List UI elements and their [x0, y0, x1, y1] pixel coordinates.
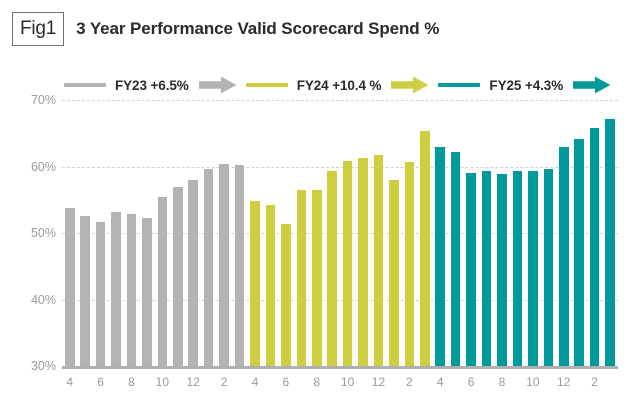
- bar[interactable]: [158, 197, 168, 366]
- x-axis-tick-label: [108, 372, 123, 394]
- bar-slot: [247, 100, 262, 366]
- bar-slot: [402, 100, 417, 366]
- bar-slot: [355, 100, 370, 366]
- bar[interactable]: [405, 162, 415, 366]
- x-axis-tick-label: 12: [371, 372, 386, 394]
- bar[interactable]: [451, 152, 461, 366]
- y-axis-tick-label: 30%: [16, 359, 56, 373]
- bar-slot: [463, 100, 478, 366]
- x-axis-tick-label: [170, 372, 185, 394]
- bar-slot: [216, 100, 231, 366]
- chart-plot-area: 30%40%50%60%70% 468101224681012246810122: [0, 0, 627, 400]
- bar-slot: [62, 100, 77, 366]
- bar[interactable]: [219, 164, 229, 366]
- bar-slot: [309, 100, 324, 366]
- x-axis-tick-label: 2: [587, 372, 602, 394]
- y-axis-tick-label: 40%: [16, 293, 56, 307]
- bar-slot: [232, 100, 247, 366]
- x-axis-tick-label: [541, 372, 556, 394]
- bar[interactable]: [250, 201, 260, 366]
- x-axis-tick-label: [510, 372, 525, 394]
- bar-slot: [278, 100, 293, 366]
- bar[interactable]: [482, 171, 492, 367]
- bar[interactable]: [544, 169, 554, 366]
- x-axis-tick-label: 10: [525, 372, 540, 394]
- x-axis-tick-label: 4: [247, 372, 262, 394]
- x-axis-tick-label: 4: [62, 372, 77, 394]
- bar[interactable]: [574, 139, 584, 366]
- bar-slot: [371, 100, 386, 366]
- bar-slot: [448, 100, 463, 366]
- x-axis-labels: 468101224681012246810122: [62, 372, 618, 394]
- bar-slot: [93, 100, 108, 366]
- bar-slot: [186, 100, 201, 366]
- bar-slot: [479, 100, 494, 366]
- bar-slot: [433, 100, 448, 366]
- y-axis-tick-label: 50%: [16, 226, 56, 240]
- bar[interactable]: [590, 128, 600, 366]
- bar[interactable]: [528, 171, 538, 367]
- bar[interactable]: [127, 214, 137, 366]
- bar-slot: [386, 100, 401, 366]
- bar[interactable]: [281, 224, 291, 366]
- bar[interactable]: [204, 169, 214, 366]
- x-axis-tick-label: 8: [494, 372, 509, 394]
- bar[interactable]: [327, 171, 337, 367]
- bar[interactable]: [65, 208, 75, 366]
- bar-slot: [139, 100, 154, 366]
- bar-series-container: [62, 100, 618, 366]
- bar[interactable]: [96, 222, 106, 366]
- x-axis-tick-label: [324, 372, 339, 394]
- x-axis-tick-label: 10: [155, 372, 170, 394]
- x-axis-tick-label: 8: [124, 372, 139, 394]
- bar[interactable]: [111, 212, 121, 366]
- bar[interactable]: [80, 216, 90, 366]
- x-axis-tick-label: [479, 372, 494, 394]
- bar[interactable]: [297, 190, 307, 366]
- x-axis-tick-label: [201, 372, 216, 394]
- bar[interactable]: [358, 158, 368, 366]
- bar-slot: [108, 100, 123, 366]
- x-axis-tick-label: [139, 372, 154, 394]
- bar-slot: [571, 100, 586, 366]
- bar-slot: [324, 100, 339, 366]
- x-axis-tick-label: [386, 372, 401, 394]
- bar-slot: [587, 100, 602, 366]
- x-axis-tick-label: [355, 372, 370, 394]
- x-axis-tick-label: [571, 372, 586, 394]
- x-axis-tick-label: 2: [216, 372, 231, 394]
- bar[interactable]: [605, 119, 615, 366]
- bar-slot: [525, 100, 540, 366]
- bar-slot: [541, 100, 556, 366]
- bar[interactable]: [466, 173, 476, 367]
- x-axis-tick-label: 12: [556, 372, 571, 394]
- bar-slot: [340, 100, 355, 366]
- y-axis-tick-label: 70%: [16, 93, 56, 107]
- x-axis-tick-label: 6: [93, 372, 108, 394]
- bar-slot: [77, 100, 92, 366]
- bar[interactable]: [513, 171, 523, 367]
- bar-slot: [294, 100, 309, 366]
- bar[interactable]: [173, 187, 183, 366]
- bar-slot: [263, 100, 278, 366]
- y-axis-tick-label: 60%: [16, 160, 56, 174]
- bar-slot: [494, 100, 509, 366]
- x-axis-tick-label: 4: [433, 372, 448, 394]
- bar[interactable]: [188, 180, 198, 366]
- x-axis-tick-label: [602, 372, 617, 394]
- x-axis-baseline: [62, 366, 618, 369]
- bar-slot: [602, 100, 617, 366]
- bar[interactable]: [389, 180, 399, 366]
- bar-slot: [124, 100, 139, 366]
- bar-slot: [201, 100, 216, 366]
- bar[interactable]: [312, 190, 322, 366]
- bar-slot: [170, 100, 185, 366]
- bar[interactable]: [142, 218, 152, 366]
- x-axis-tick-label: 10: [340, 372, 355, 394]
- x-axis-tick-label: [448, 372, 463, 394]
- x-axis-tick-label: 8: [309, 372, 324, 394]
- bar[interactable]: [343, 161, 353, 366]
- x-axis-tick-label: 6: [278, 372, 293, 394]
- x-axis-tick-label: [417, 372, 432, 394]
- bar[interactable]: [235, 165, 245, 366]
- bar[interactable]: [374, 155, 384, 366]
- bar-slot: [510, 100, 525, 366]
- x-axis-tick-label: [77, 372, 92, 394]
- bar[interactable]: [559, 147, 569, 366]
- bar-slot: [155, 100, 170, 366]
- x-axis-tick-label: 2: [402, 372, 417, 394]
- bar[interactable]: [420, 131, 430, 366]
- bar[interactable]: [435, 147, 445, 366]
- x-axis-tick-label: 6: [463, 372, 478, 394]
- x-axis-tick-label: 12: [186, 372, 201, 394]
- x-axis-tick-label: [294, 372, 309, 394]
- bar[interactable]: [266, 205, 276, 366]
- bar-slot: [556, 100, 571, 366]
- bar-slot: [417, 100, 432, 366]
- x-axis-tick-label: [263, 372, 278, 394]
- bar[interactable]: [497, 174, 507, 366]
- x-axis-tick-label: [232, 372, 247, 394]
